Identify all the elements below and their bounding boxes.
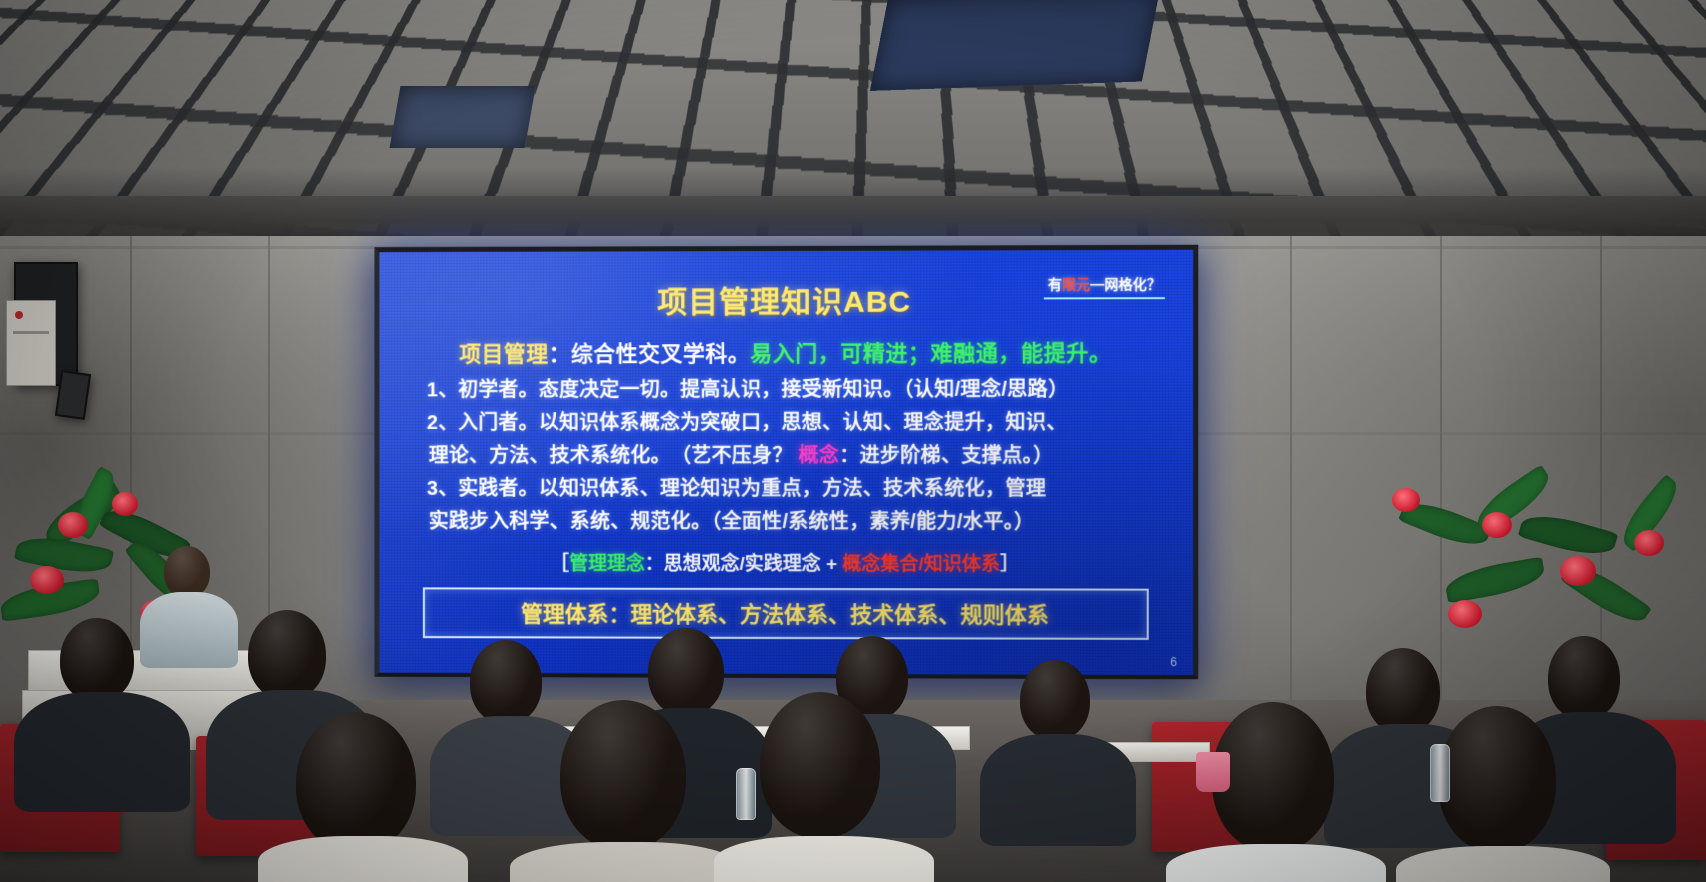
corner-tag-part3: —网格化？ — [1090, 276, 1161, 292]
slide-body: 1、初学者。态度决定一切。提高认识，接受新知识。（认知/理念/思路） 2、入门者… — [405, 380, 1167, 546]
concept-white: ：思想观念/实践理念 + — [645, 554, 843, 575]
concept-bracket-close: ］ — [1000, 554, 1019, 575]
slide-corner-tag: 有限元—网格化？ — [1044, 272, 1165, 299]
point-2-pink: 概念 — [799, 445, 840, 467]
ceiling-dark-panel — [390, 86, 536, 148]
led-presentation-screen: 项目管理知识ABC 有限元—网格化？ 项目管理：综合性交叉学科。易入门，可精进；… — [374, 245, 1198, 679]
slide-content: 项目管理知识ABC 有限元—网格化？ 项目管理：综合性交叉学科。易入门，可精进；… — [379, 250, 1193, 675]
slide-point-2: 2、入门者。以知识体系概念为突破口，思想、认知、理念提升，知识、 — [427, 413, 1167, 433]
concept-red: 概念集合/知识体系 — [842, 554, 1000, 575]
concept-bracket-open: ［ — [550, 554, 569, 575]
photo-scene: 项目管理知识ABC 有限元—网格化？ 项目管理：综合性交叉学科。易入门，可精进；… — [0, 0, 1706, 882]
slide-point-2-cont: 理论、方法、技术系统化。 （艺不压身？ 概念：进步阶梯、支撑点。） — [427, 446, 1167, 466]
slide-point-3-cont: 实践步入科学、系统、规范化。（全面性/系统性，素养/能力/水平。） — [427, 512, 1167, 533]
slide-system-box: 管理体系：理论体系、方法体系、技术体系、规则体系 — [423, 587, 1149, 640]
slide-lede-line: 项目管理：综合性交叉学科。易入门，可精进；难融通，能提升。 — [405, 335, 1167, 368]
system-box-text: 管理体系：理论体系、方法体系、技术体系、规则体系 — [433, 596, 1139, 629]
wall-shadow — [1186, 236, 1706, 756]
water-bottle — [736, 768, 756, 820]
corner-tag-part1: 有 — [1048, 276, 1062, 292]
slide-point-3: 3、实践者。以知识体系、理论知识为重点，方法、技术系统化，管理 — [427, 479, 1167, 499]
lede-highlight: 易入门，可精进；难融通，能提升。 — [750, 340, 1111, 366]
wall-speaker-small — [55, 370, 91, 420]
corner-tag-part2: 限元 — [1062, 276, 1090, 292]
concept-green: 管理理念 — [569, 554, 645, 575]
slide-concept-line: ［管理理念：思想观念/实践理念 + 概念集合/知识体系］ — [405, 549, 1167, 577]
ceiling-dark-panel — [870, 0, 1160, 91]
slide-point-1: 1、初学者。态度决定一切。提高认识，接受新知识。（认知/理念/思路） — [427, 380, 1167, 401]
water-bottle — [1430, 744, 1450, 802]
pink-cup — [1196, 752, 1230, 792]
lede-middle: ：综合性交叉学科。 — [549, 341, 751, 366]
lede-label: 项目管理 — [459, 341, 548, 366]
slide-page-number: 6 — [1170, 655, 1177, 669]
indicator-light — [15, 311, 23, 319]
point-2-post: ：进步阶梯、支撑点。） — [839, 445, 1053, 467]
point-2-pre: 理论、方法、技术系统化。 （艺不压身？ — [429, 445, 799, 467]
wall-control-panel — [6, 300, 56, 386]
